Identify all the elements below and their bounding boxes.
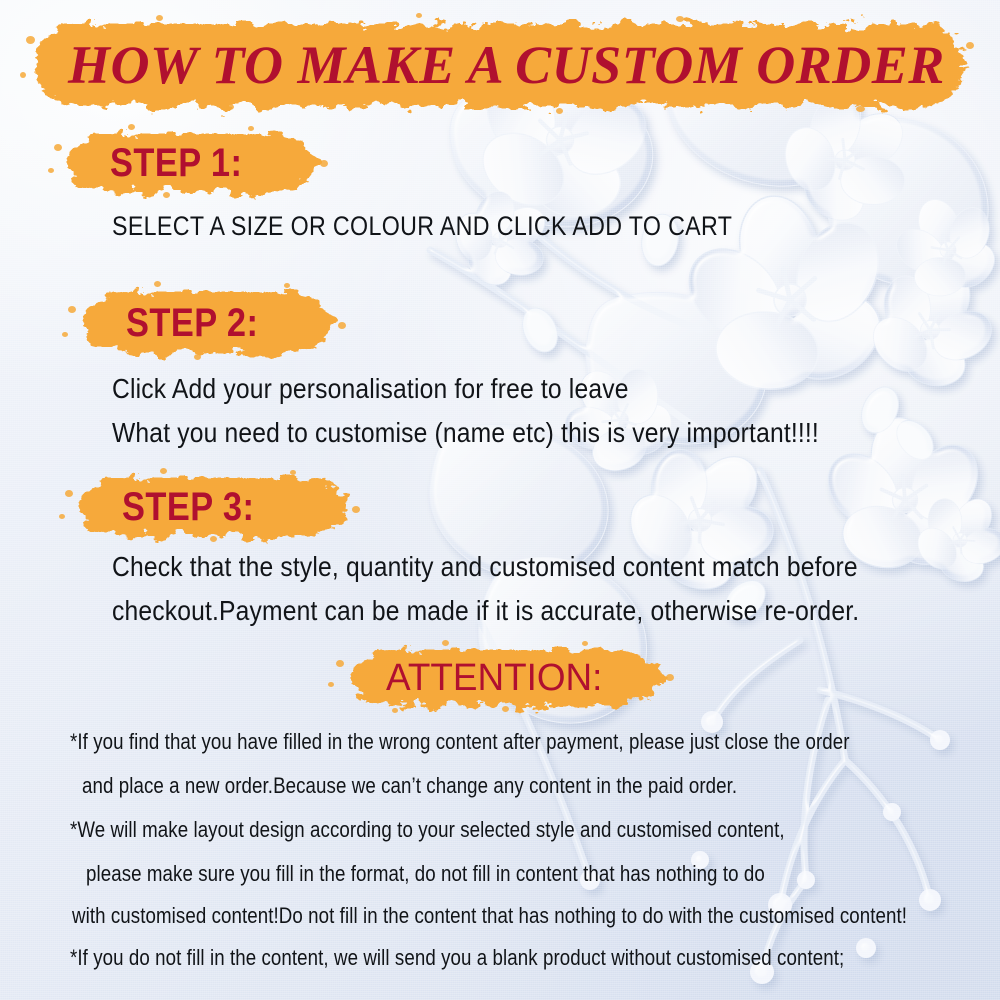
step-1-label: STEP 1: <box>68 134 316 192</box>
step-3-line-2: checkout.Payment can be made if it is ac… <box>112 595 859 627</box>
attention-line-2: and place a new order.Because we can’t c… <box>82 773 737 799</box>
step-2-label: STEP 2: <box>84 292 332 354</box>
step-3-label-text: STEP 3: <box>122 487 254 527</box>
step-2-label-text: STEP 2: <box>126 303 258 343</box>
poster-canvas: HOW TO MAKE A CUSTOM ORDER STEP 1: SELEC… <box>0 0 1000 1000</box>
page-title: HOW TO MAKE A CUSTOM ORDER <box>36 24 964 106</box>
step-3-line-1: Check that the style, quantity and custo… <box>112 551 858 583</box>
attention-heading-text: ATTENTION: <box>386 659 602 697</box>
attention-line-4: please make sure you fill in the format,… <box>86 861 765 887</box>
attention-heading: ATTENTION: <box>352 650 662 706</box>
step-3-label: STEP 3: <box>80 478 348 536</box>
attention-line-1: *If you find that you have filled in the… <box>70 729 850 755</box>
step-2-line-2: What you need to customise (name etc) th… <box>112 417 819 449</box>
step-2-line-1: Click Add your personalisation for free … <box>112 373 629 405</box>
step-1-line-1: SELECT A SIZE OR COLOUR AND CLICK ADD TO… <box>112 211 732 242</box>
attention-line-3: *We will make layout design according to… <box>70 817 785 843</box>
page-title-text: HOW TO MAKE A CUSTOM ORDER <box>68 38 945 92</box>
attention-line-5: with customised content!Do not fill in t… <box>72 903 907 929</box>
attention-line-6: *If you do not fill in the content, we w… <box>70 945 844 971</box>
step-1-label-text: STEP 1: <box>110 143 242 183</box>
